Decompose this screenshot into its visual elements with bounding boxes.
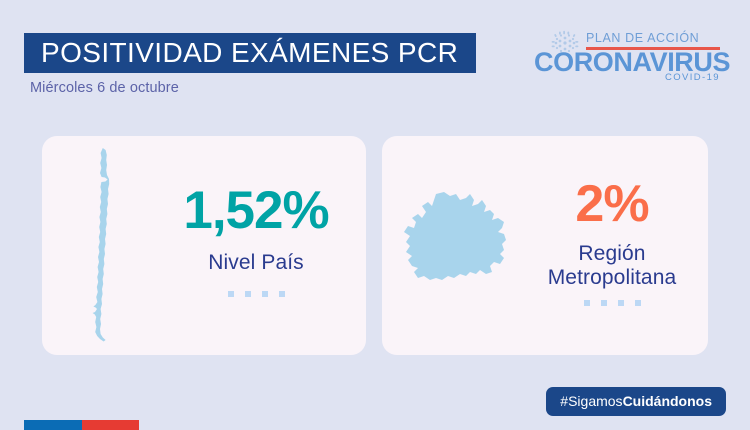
logo-blue-bar [24, 420, 82, 430]
dot [618, 300, 624, 306]
region-metropolitana-stat-block: 2% Región Metropolitana [516, 178, 708, 306]
hashtag-badge: #SigamosCuidándonos [546, 387, 726, 416]
covid-19-text: COVID-19 [665, 72, 720, 83]
hashtag-bold-text: Cuidándonos [623, 393, 712, 409]
dot [635, 300, 641, 306]
region-metropolitana-label: Región Metropolitana [516, 242, 708, 290]
stat-card-region-metropolitana: 2% Región Metropolitana [382, 136, 708, 355]
region-metropolitana-map-icon [400, 188, 530, 300]
region-metropolitana-value: 2% [516, 178, 708, 230]
plan-de-accion-text: PLAN DE ACCIÓN [586, 30, 720, 46]
dot [601, 300, 607, 306]
page-title-banner: POSITIVIDAD EXÁMENES PCR [24, 33, 476, 73]
dot [584, 300, 590, 306]
nivel-pais-dots [146, 291, 366, 297]
nivel-pais-label: Nivel País [146, 251, 366, 275]
region-metropolitana-map-container [400, 188, 530, 300]
dot [279, 291, 285, 297]
chile-map-icon [81, 146, 125, 346]
hashtag-light-text: #Sigamos [560, 393, 622, 409]
page-title: POSITIVIDAD EXÁMENES PCR [41, 39, 458, 67]
gobierno-de-chile-logo [24, 420, 139, 430]
stat-card-nivel-pais: 1,52% Nivel País [42, 136, 366, 355]
logo-red-bar [82, 420, 140, 430]
dot [262, 291, 268, 297]
coronavirus-plan-logo: PLAN DE ACCIÓN CORONAVIRUS COVID-19 [534, 26, 720, 84]
dot [228, 291, 234, 297]
nivel-pais-stat-block: 1,52% Nivel País [146, 184, 366, 297]
page-subtitle-date: Miércoles 6 de octubre [30, 80, 179, 96]
region-metropolitana-dots [516, 300, 708, 306]
chile-map-container [72, 144, 134, 348]
dot [245, 291, 251, 297]
nivel-pais-value: 1,52% [146, 184, 366, 237]
